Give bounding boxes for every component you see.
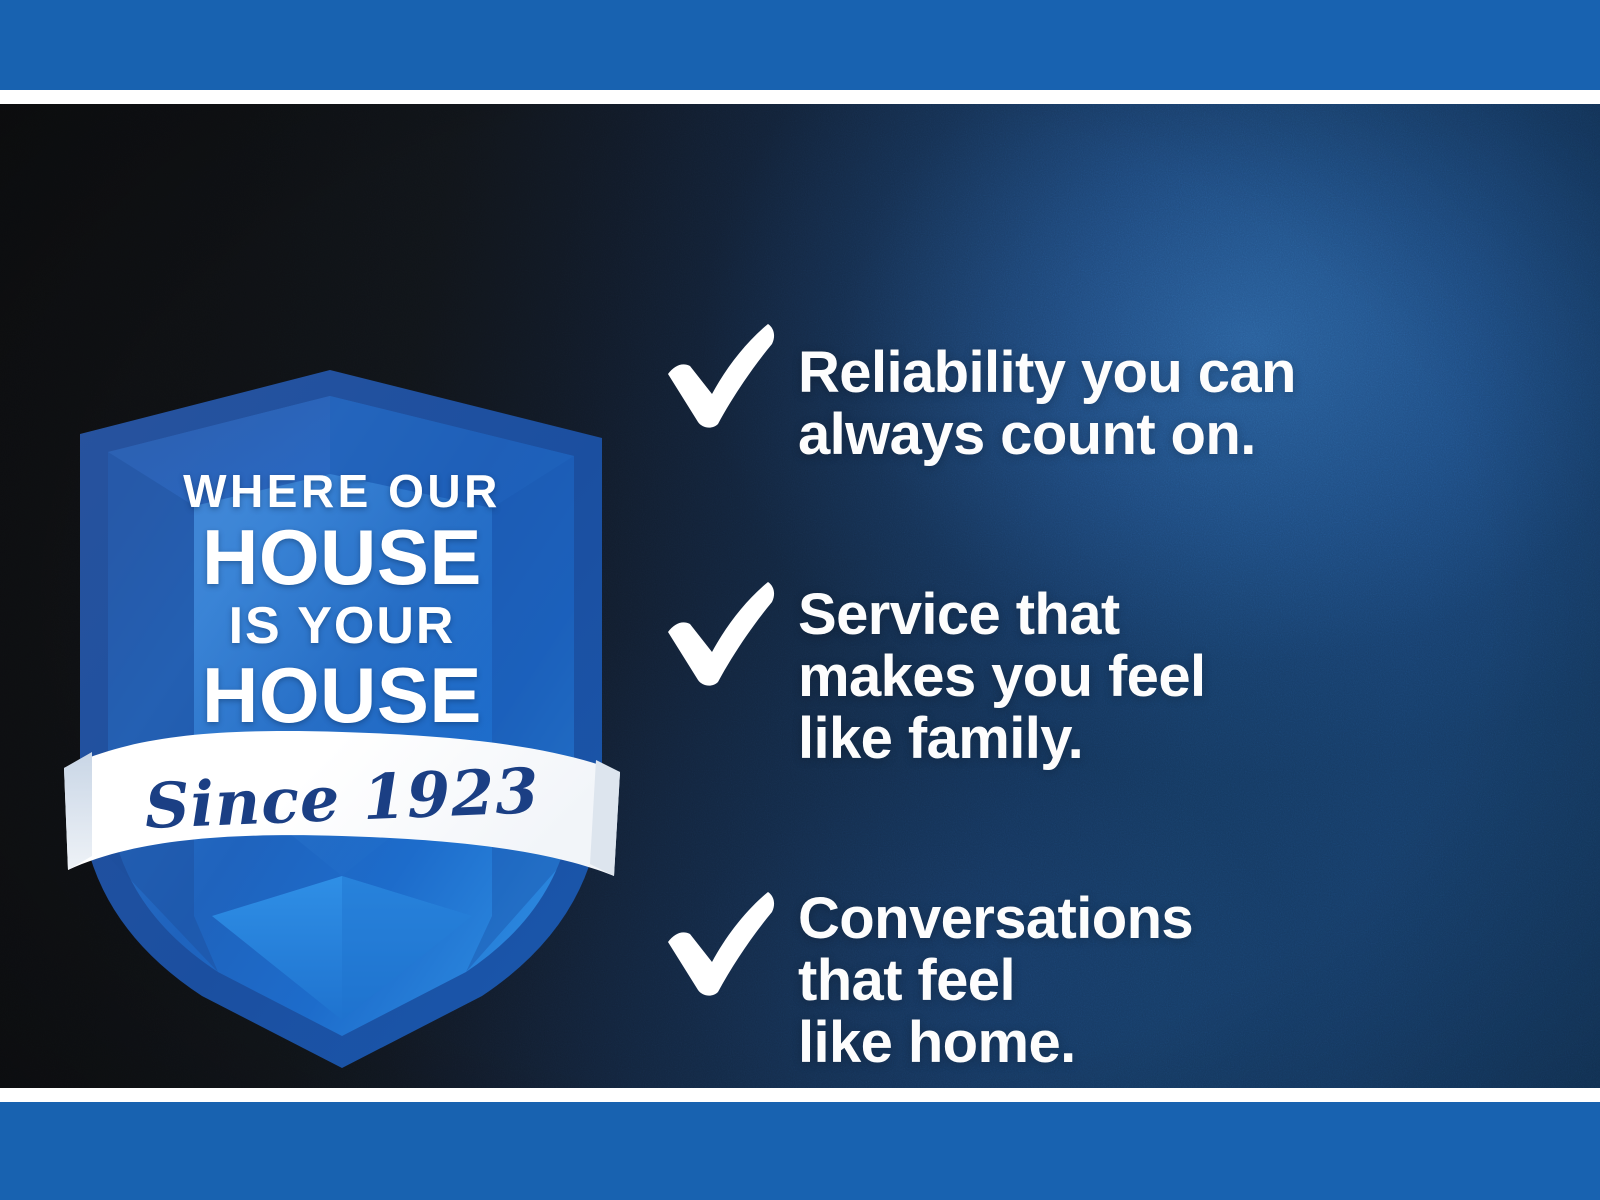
list-item: Conversations that feel like home. — [660, 884, 1540, 1074]
top-brand-bar — [0, 0, 1600, 90]
bottom-brand-bar — [0, 1102, 1600, 1200]
shield-icon — [62, 356, 622, 1068]
list-item-text: Service that makes you feel like family. — [798, 574, 1540, 770]
check-icon — [660, 316, 780, 432]
list-item: Service that makes you feel like family. — [660, 574, 1540, 770]
main-stage: WHERE OUR HOUSE IS YOUR HOUSE Since 1923… — [0, 104, 1600, 1088]
benefits-list: Reliability you can always count on. Ser… — [660, 284, 1540, 1088]
check-icon — [660, 574, 780, 690]
check-icon — [660, 884, 780, 1000]
heritage-badge: WHERE OUR HOUSE IS YOUR HOUSE Since 1923 — [62, 356, 622, 1068]
list-item-text: Reliability you can always count on. — [798, 316, 1540, 466]
promo-banner: WHERE OUR HOUSE IS YOUR HOUSE Since 1923… — [0, 0, 1600, 1200]
list-item: Reliability you can always count on. — [660, 316, 1540, 466]
list-item-text: Conversations that feel like home. — [798, 884, 1540, 1074]
